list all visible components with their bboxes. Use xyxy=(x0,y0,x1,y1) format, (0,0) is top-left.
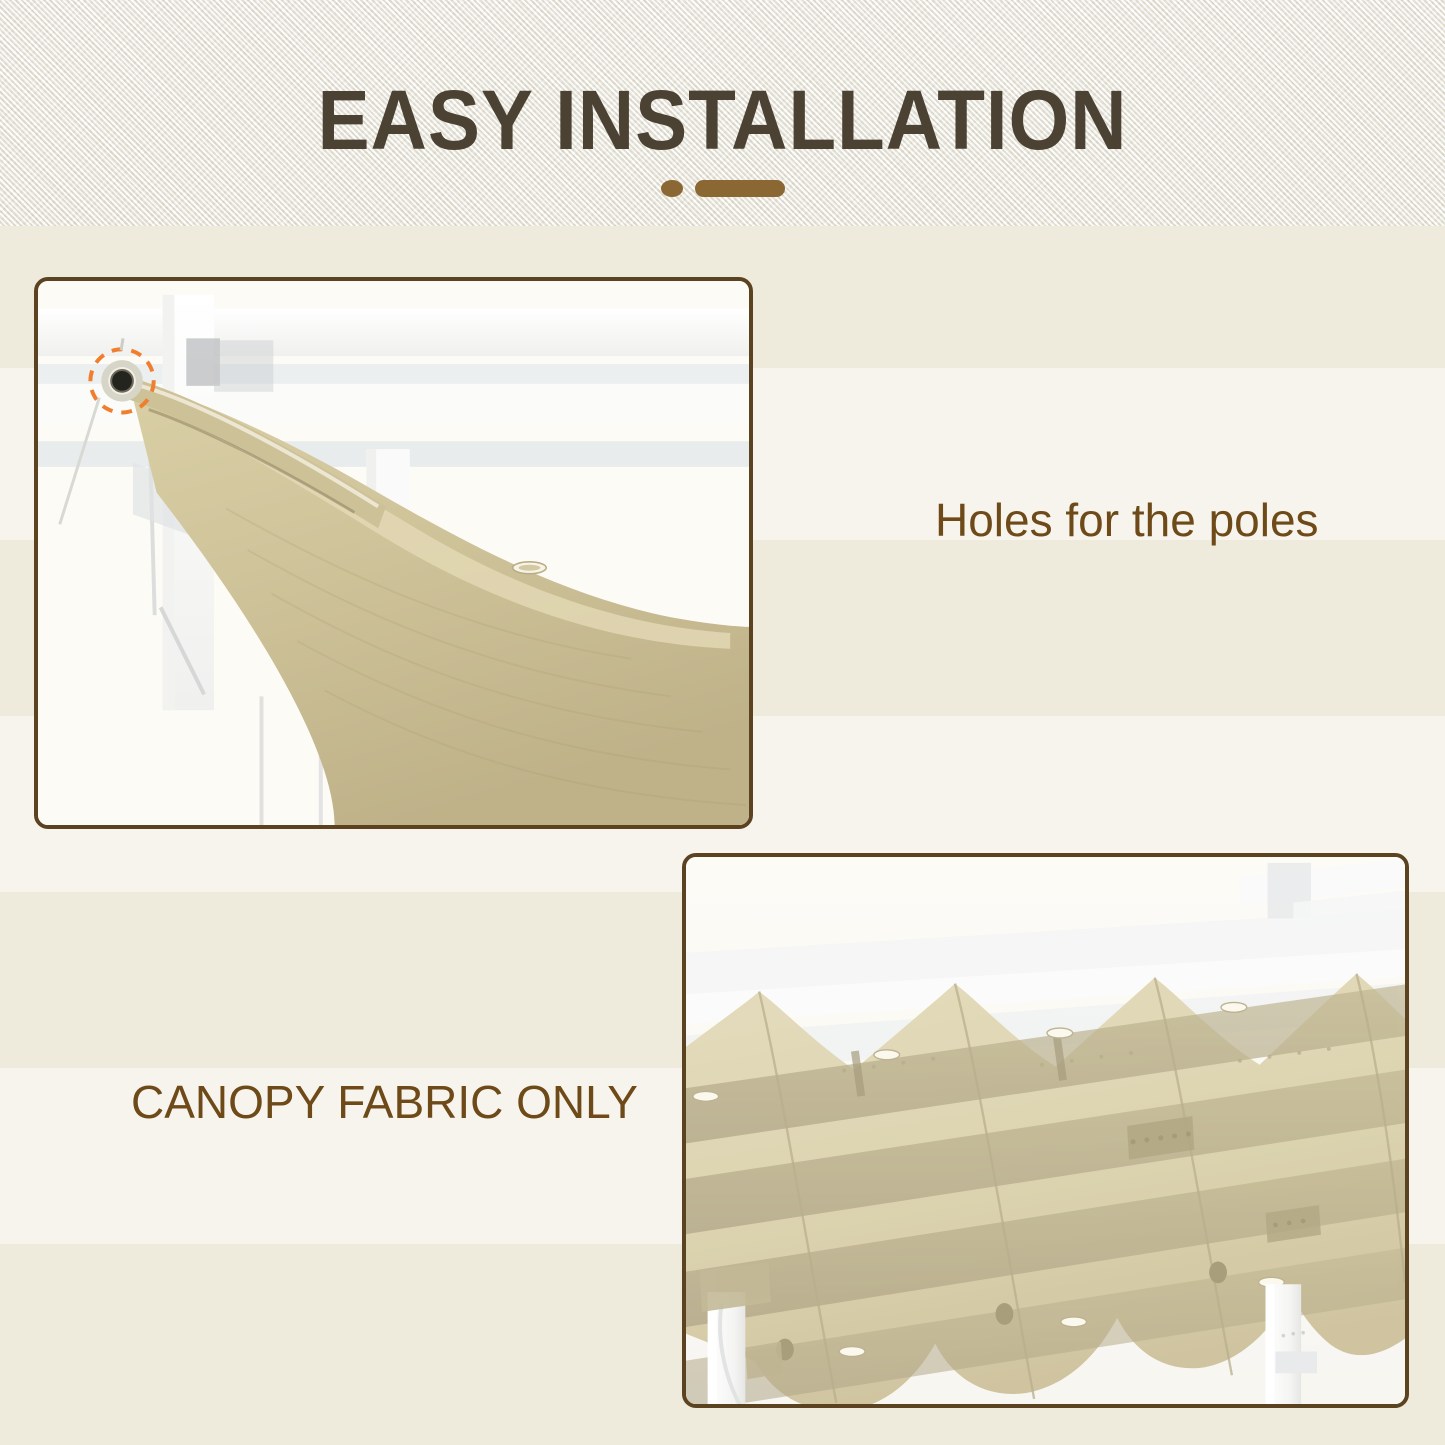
caption-canopy-fabric-only: CANOPY FABRIC ONLY xyxy=(131,1074,638,1130)
page-title: EASY INSTALLATION xyxy=(51,78,1395,162)
canopy-underside-illustration xyxy=(686,857,1405,1406)
title-divider xyxy=(0,176,1445,200)
infographic-canvas: EASY INSTALLATION xyxy=(0,0,1445,1445)
pergola-grommet-illustration xyxy=(38,281,749,827)
divider-bar-icon xyxy=(695,180,785,197)
canopy-underside-photo xyxy=(682,853,1409,1408)
pole-hole-grommet xyxy=(101,360,143,402)
pergola-grommet-detail-photo xyxy=(34,277,753,829)
caption-holes-for-the-poles: Holes for the poles xyxy=(935,492,1319,548)
fabric-eyelet xyxy=(513,562,547,574)
divider-dot-icon xyxy=(661,180,683,197)
